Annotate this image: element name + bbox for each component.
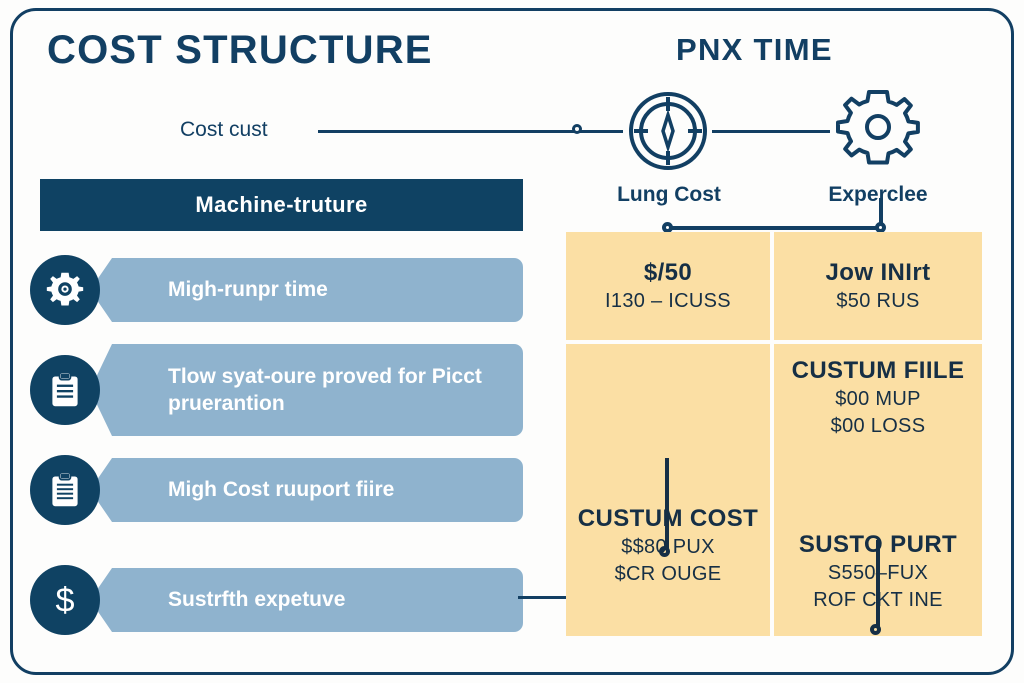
grid-cell[interactable]: CUSTUM FIILE $00 MUP $00 LOSS SUSTO PURT… [774,344,982,636]
cell-line: $00 MUP [774,386,982,413]
compass-icon [626,89,710,173]
cell-title: $/50 [644,258,692,288]
infographic-canvas: COST STRUCTURE PNX TIME Cost cust Lung C… [0,0,1024,683]
list-item[interactable]: $ Sustrfth expetuve [30,568,523,632]
cell-line: ROF CKT INE [774,587,982,614]
cell-d-bottom-text-block: SUSTO PURT S550–FUX ROF CKT INE [774,530,982,614]
cell-line: S550–FUX [774,560,982,587]
grid-top-connector-line [667,226,880,230]
cost-grid-panel: $/50 I130 – ICUSS Jow INIrt $50 RUS CUST… [566,232,982,636]
cell-line: $50 RUS [836,288,919,315]
gear-icon [30,255,100,325]
svg-text:$: $ [55,581,74,619]
grid-top-connector-stub [879,198,883,224]
list-item-label: Migh Cost ruuport fiire [168,458,518,522]
list-item[interactable]: Tlow syat-oure proved for Picct pruerant… [30,344,523,436]
top-connector-line-2 [712,130,830,133]
grid-cell[interactable]: CUSTUM COST $$80 PUX $CR OUGE [566,344,770,636]
cell-title: CUSTUM COST [566,504,770,534]
clipboard-icon [30,355,100,425]
grid-cell[interactable]: Jow INIrt $50 RUS [774,232,982,340]
cell-d-top-text-block: CUSTUM FIILE $00 MUP $00 LOSS [774,356,982,440]
node-caption-lung-cost: Lung Cost [604,183,734,207]
cell-title: SUSTO PURT [774,530,982,560]
list-item[interactable]: Migh-runpr time [30,258,523,322]
cost-cust-label: Cost cust [180,118,268,142]
list-item-label: Migh-runpr time [168,258,518,322]
cell-line: I130 – ICUSS [605,288,731,315]
cell-title: Jow INIrt [826,258,931,288]
cell-line: $00 LOSS [774,413,982,440]
page-title-left: COST STRUCTURE [47,28,433,73]
clipboard-icon [30,455,100,525]
list-item-label: Sustrfth expetuve [168,568,518,632]
cell-line: $CR OUGE [566,561,770,588]
list-item[interactable]: Migh Cost ruuport fiire [30,458,523,522]
cell-c-text-block: CUSTUM COST $$80 PUX $CR OUGE [566,504,770,588]
grid-cell[interactable]: $/50 I130 – ICUSS [566,232,770,340]
list-item-label: Tlow syat-oure proved for Picct pruerant… [168,344,518,436]
cell-title: CUSTUM FIILE [774,356,982,386]
cell-line: $$80 PUX [566,534,770,561]
cell-d-connector-dot [870,624,881,635]
gear-icon [834,86,922,174]
page-title-right: PNX TIME [676,32,833,68]
left-header-bar: Machine-truture [40,179,523,231]
node-caption-experclee: Experclee [810,183,946,207]
dollar-icon: $ [30,565,100,635]
top-connector-dot [572,124,582,134]
